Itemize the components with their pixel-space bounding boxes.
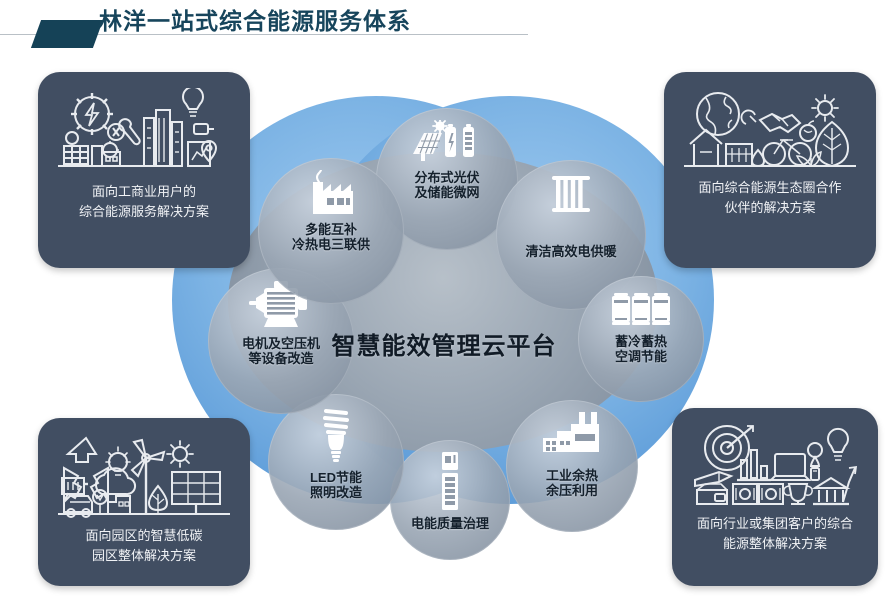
cfl-bulb-icon [317, 406, 355, 462]
petal-multi-energy[interactable]: 多能互补 冷热电三联供 [258, 158, 404, 304]
card-smart-low-carbon-park[interactable]: 面向园区的智慧低碳 园区整体解决方案 [38, 418, 250, 586]
petal-label: 电机及空压机 等设备改造 [242, 336, 320, 367]
industrial-gear-city-icon [58, 88, 230, 174]
target-chart-bank-icon [691, 424, 859, 506]
petal-label: 工业余热 余压利用 [546, 468, 598, 499]
card-text: 面向综合能源生态圈合作 伙伴的解决方案 [688, 178, 851, 218]
card-commercial-industrial[interactable]: 面向工商业用户的 综合能源服务解决方案 [38, 72, 250, 268]
card-text: 面向园区的智慧低碳 园区整体解决方案 [75, 526, 212, 566]
petal-label: 蓄冷蓄热 空调节能 [615, 334, 667, 365]
petal-label: 清洁高效电供暖 [525, 244, 616, 259]
parallelogram-mark-icon [31, 20, 103, 48]
petal-label: LED节能 照明改造 [310, 470, 362, 501]
cabinet-icon [435, 452, 465, 512]
petal-label: 电能质量治理 [411, 516, 489, 531]
card-text: 面向行业或集团客户的综合 能源整体解决方案 [687, 514, 863, 554]
petal-waste-heat[interactable]: 工业余热 余压利用 [506, 400, 638, 532]
card-industry-group-clients[interactable]: 面向行业或集团客户的综合 能源整体解决方案 [672, 408, 878, 586]
petal-led-lighting[interactable]: LED节能 照明改造 [268, 394, 404, 530]
solar-panel-battery-icon [411, 120, 483, 164]
card-ecosystem-partners[interactable]: 面向综合能源生态圈合作 伙伴的解决方案 [664, 72, 876, 268]
radiator-icon [546, 172, 596, 218]
storage-tanks-icon [610, 288, 672, 328]
card-text: 面向工商业用户的 综合能源服务解决方案 [69, 182, 219, 222]
globe-handshake-eco-icon [684, 88, 856, 170]
page-title: 林洋一站式综合能源服务体系 [99, 2, 411, 36]
petal-label: 多能互补 冷热电三联供 [292, 222, 370, 253]
petal-label: 分布式光伏 及储能微网 [414, 170, 479, 201]
factory-icon [541, 412, 603, 454]
power-plant-icon [301, 170, 361, 216]
page-header: 林洋一站式综合能源服务体系 [0, 0, 889, 56]
petal-thermal-storage[interactable]: 蓄冷蓄热 空调节能 [578, 276, 704, 402]
petal-power-quality[interactable]: 电能质量治理 [390, 440, 510, 560]
recycle-windmill-solar-icon [58, 434, 230, 518]
